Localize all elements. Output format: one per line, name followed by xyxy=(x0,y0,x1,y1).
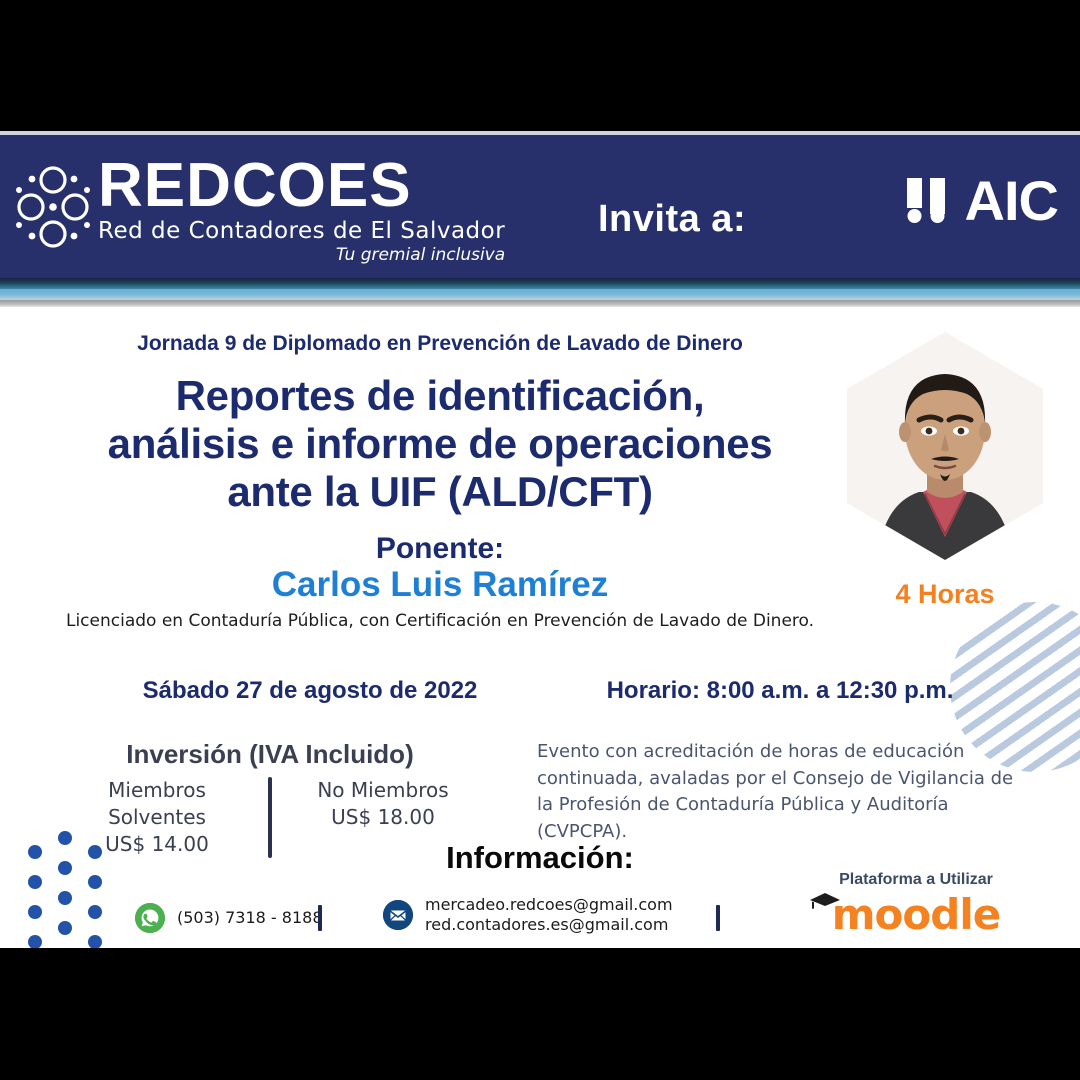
accreditation-note: Evento con acreditación de horas de educ… xyxy=(537,739,1027,846)
contact-separator-2 xyxy=(716,905,720,931)
flyer-canvas: REDCOES Red de Contadores de El Salvador… xyxy=(0,0,1080,1080)
tier-label: Miembros Solventes xyxy=(62,777,252,831)
platform-label: Plataforma a Utilizar xyxy=(786,871,1046,889)
event-kicker: Jornada 9 de Diplomado en Prevención de … xyxy=(0,332,880,356)
contact-whatsapp[interactable]: (503) 7318 - 8188 xyxy=(135,903,323,933)
title-line-1: Reportes de identificación, xyxy=(0,372,880,420)
brand-name: REDCOES xyxy=(98,157,505,216)
investment-heading: Inversión (IVA Incluido) xyxy=(60,739,480,770)
speaker-name: Carlos Luis Ramírez xyxy=(0,565,880,605)
title-line-3: ante la UIF (ALD/CFT) xyxy=(0,468,880,516)
letterbox-top xyxy=(0,0,1080,131)
event-date: Sábado 27 de agosto de 2022 xyxy=(110,677,510,705)
aic-logo: AIC xyxy=(903,173,1058,229)
page-title: Reportes de identificación, análisis e i… xyxy=(0,372,880,516)
redcoes-mark-icon xyxy=(10,163,96,255)
aic-bars-icon xyxy=(903,178,955,224)
contact-email[interactable]: mercadeo.redcoes@gmail.com red.contadore… xyxy=(383,895,673,935)
body-canvas: Jornada 9 de Diplomado en Prevención de … xyxy=(0,307,1080,948)
title-line-2: análisis e informe de operaciones xyxy=(0,420,880,468)
contact-separator-1 xyxy=(318,905,322,931)
email-list: mercadeo.redcoes@gmail.com red.contadore… xyxy=(425,895,673,935)
duration-badge: 4 Horas xyxy=(838,579,1052,610)
redcoes-logo: REDCOES Red de Contadores de El Salvador… xyxy=(10,157,505,265)
graduation-cap-icon xyxy=(808,892,842,910)
envelope-icon xyxy=(383,900,413,930)
speaker-label: Ponente: xyxy=(0,532,880,566)
divider-strip-teal xyxy=(0,278,1080,289)
invite-label: Invita a: xyxy=(598,198,746,241)
divider-strip-gray xyxy=(0,300,1080,307)
tier-price: US$ 18.00 xyxy=(288,804,478,831)
email-address-1: mercadeo.redcoes@gmail.com xyxy=(425,895,673,915)
phone-number: (503) 7318 - 8188 xyxy=(177,908,323,928)
divider-strip-blue xyxy=(0,289,1080,300)
letterbox-bottom xyxy=(0,948,1080,1080)
email-address-2: red.contadores.es@gmail.com xyxy=(425,915,673,935)
speaker-photo-hexagon xyxy=(838,322,1052,570)
event-schedule: Horario: 8:00 a.m. a 12:30 p.m. xyxy=(560,677,1000,705)
speaker-description: Licenciado en Contaduría Pública, con Ce… xyxy=(0,611,880,631)
brand-tagline: Tu gremial inclusiva xyxy=(98,245,505,265)
brand-subtitle: Red de Contadores de El Salvador xyxy=(98,218,505,244)
aic-wordmark: AIC xyxy=(965,173,1058,229)
whatsapp-icon xyxy=(135,903,165,933)
tier-label: No Miembros xyxy=(288,777,478,804)
header-band: REDCOES Red de Contadores de El Salvador… xyxy=(0,135,1080,278)
